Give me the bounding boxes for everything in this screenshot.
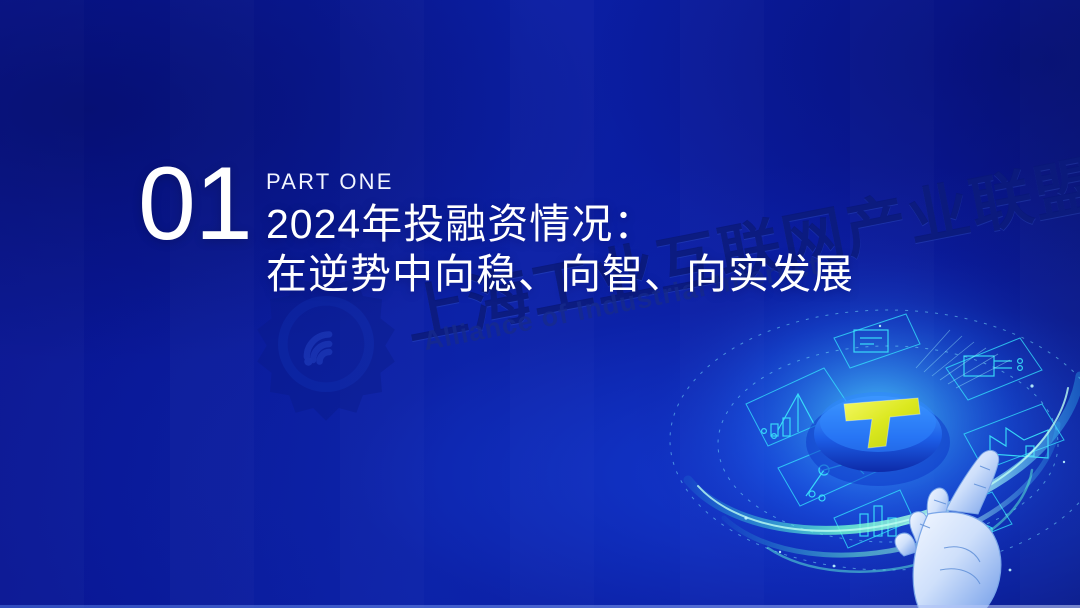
slide-root: 上海工业互联网产业联盟 Alliance of Industrial Inter…: [0, 0, 1080, 608]
title-line-2: 在逆势中向稳、向智、向实发展: [266, 249, 854, 299]
part-label: PART ONE: [266, 170, 854, 193]
title-column: PART ONE 2024年投融资情况： 在逆势中向稳、向智、向实发展: [266, 170, 854, 299]
part-number: 01: [138, 152, 252, 256]
title-line-1: 2024年投融资情况：: [266, 199, 854, 249]
title-block: 01 PART ONE 2024年投融资情况： 在逆势中向稳、向智、向实发展: [0, 0, 1080, 608]
